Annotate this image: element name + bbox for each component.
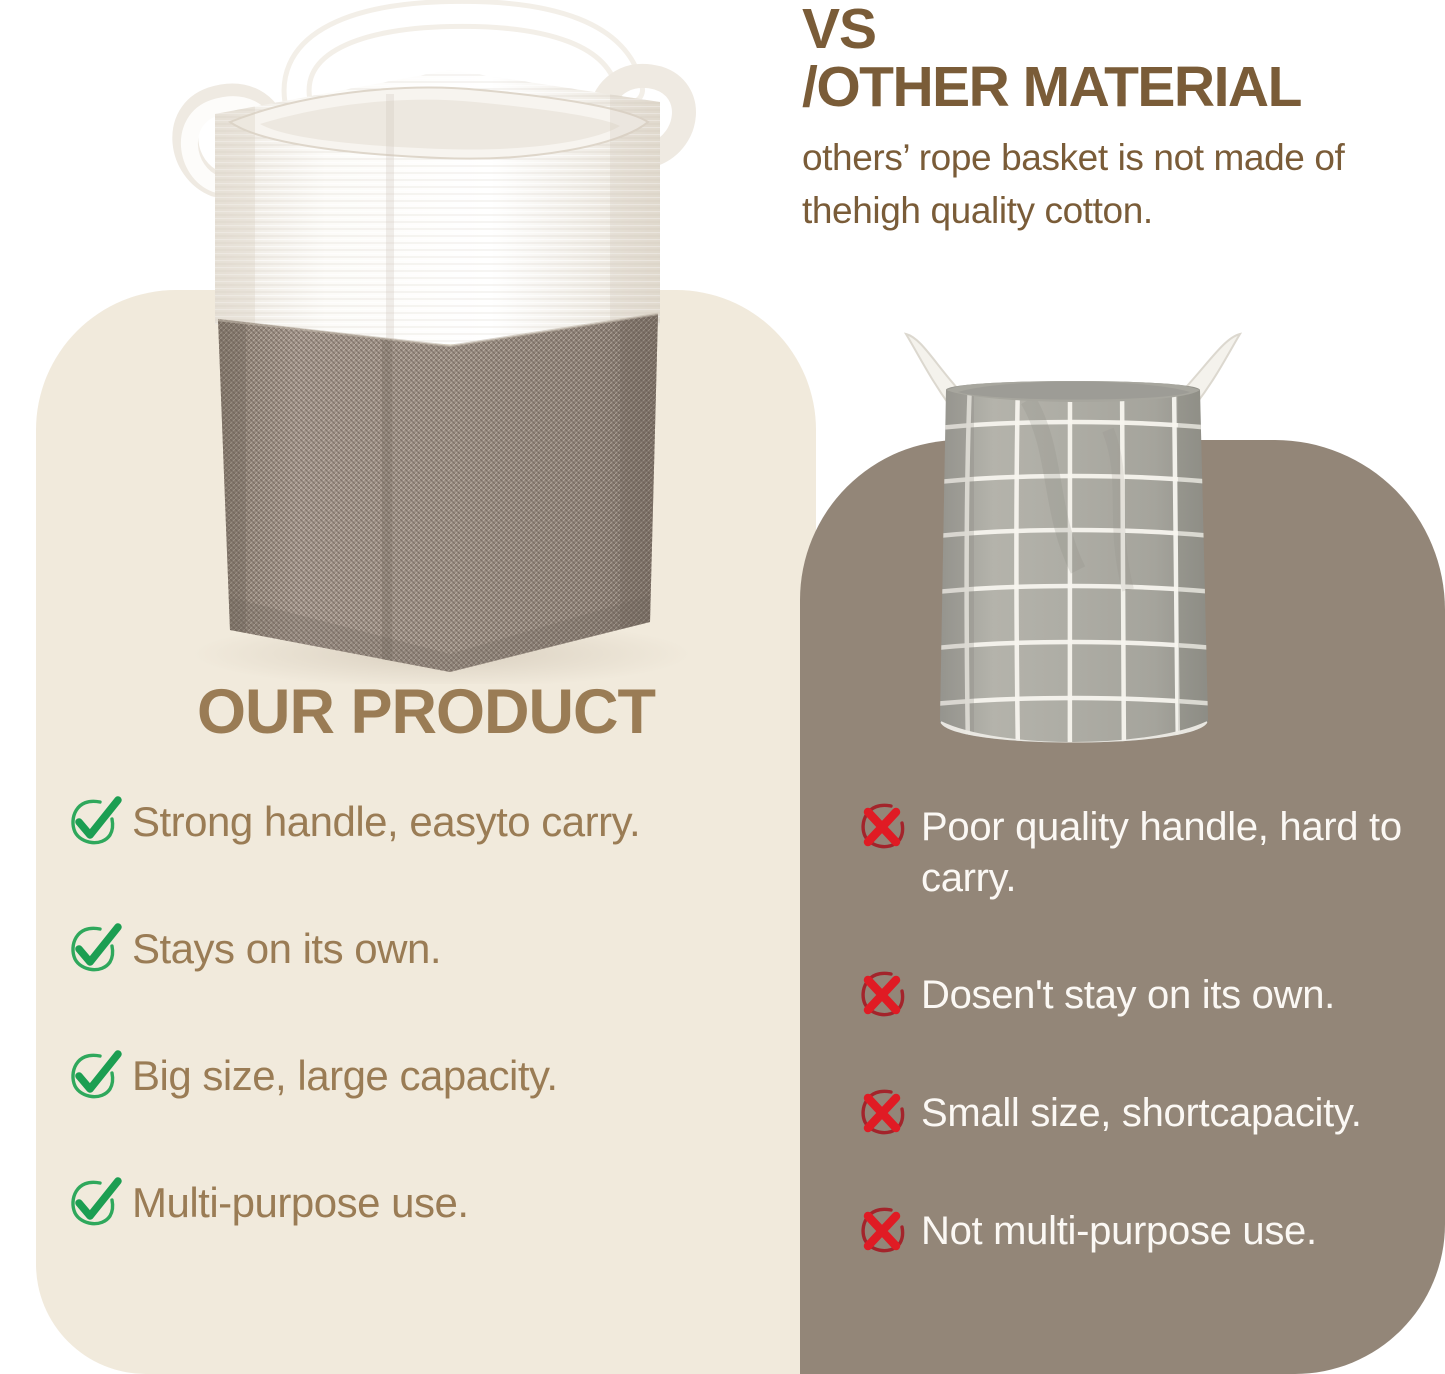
list-item: Not multi-purpose use. [855, 1204, 1435, 1258]
list-item-label: Stays on its own. [132, 922, 441, 974]
list-item-label: Not multi-purpose use. [921, 1204, 1317, 1257]
list-item-label: Small size, shortcapacity. [921, 1086, 1362, 1139]
list-item-label: Strong handle, easyto carry. [132, 795, 640, 847]
other-material-basket-image [878, 320, 1268, 795]
red-cross-icon [855, 1088, 913, 1140]
list-item-label: Multi-purpose use. [132, 1176, 469, 1228]
list-item: Dosen't stay on its own. [855, 968, 1435, 1022]
list-item: Multi-purpose use. [66, 1176, 806, 1230]
our-product-title: OUR PRODUCT [36, 676, 816, 748]
comparison-header: VS /OTHER MATERIAL others’ rope basket i… [802, 0, 1445, 237]
green-check-icon [66, 797, 124, 849]
our-product-basket-image [150, 0, 710, 684]
list-item: Big size, large capacity. [66, 1049, 806, 1103]
list-item-label: Dosen't stay on its own. [921, 968, 1335, 1021]
list-item-label: Poor quality handle, hard to carry. [921, 800, 1435, 904]
vs-label: VS [802, 0, 1445, 58]
list-item: Small size, shortcapacity. [855, 1086, 1435, 1140]
green-check-icon [66, 924, 124, 976]
list-item-label: Big size, large capacity. [132, 1049, 558, 1101]
list-item: Poor quality handle, hard to carry. [855, 800, 1435, 904]
list-item: Strong handle, easyto carry. [66, 795, 806, 849]
green-check-icon [66, 1178, 124, 1230]
red-cross-icon [855, 1206, 913, 1258]
green-check-icon [66, 1051, 124, 1103]
other-material-subtitle: others’ rope basket is not made of thehi… [802, 132, 1445, 237]
red-cross-icon [855, 802, 913, 854]
other-material-drawback-list: Poor quality handle, hard to carry. Dose… [855, 800, 1435, 1258]
our-product-feature-list: Strong handle, easyto carry. Stays on it… [66, 795, 806, 1230]
red-cross-icon [855, 970, 913, 1022]
list-item: Stays on its own. [66, 922, 806, 976]
other-material-title: /OTHER MATERIAL [802, 58, 1445, 118]
